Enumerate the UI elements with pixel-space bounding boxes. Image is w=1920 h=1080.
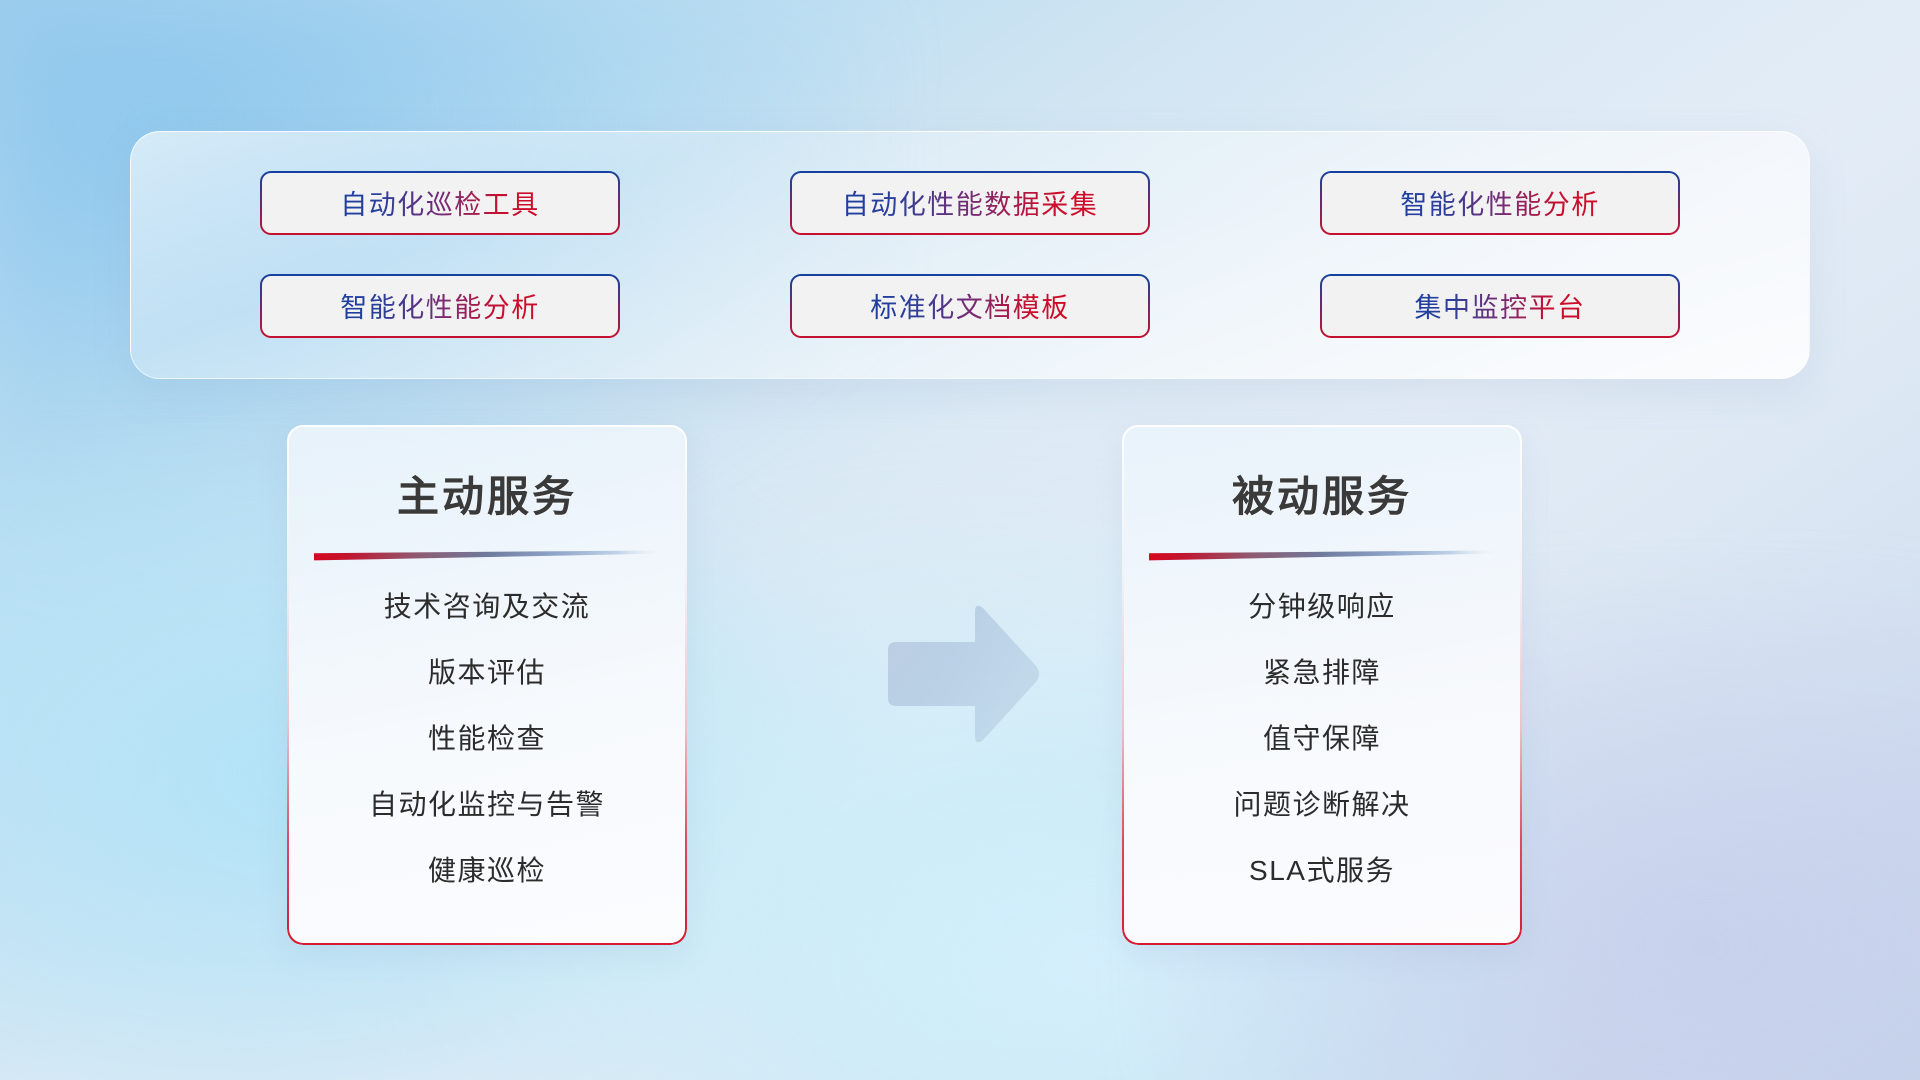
service-card-passive: 被动服务 分钟级响应 紧急排障 值守保障 问题诊断解决 SLA式服务 (1122, 425, 1522, 945)
capability-pill-label: 标准化文档模板 (870, 286, 1070, 325)
service-item-list: 技术咨询及交流 版本评估 性能检查 自动化监控与告警 健康巡检 (287, 589, 687, 888)
capability-pill-label: 智能化性能分析 (340, 286, 540, 325)
service-item: 健康巡检 (287, 853, 687, 888)
service-card-active: 主动服务 技术咨询及交流 版本评估 性能检查 自动化监控与告警 健康巡检 (287, 425, 687, 945)
service-item: 自动化监控与告警 (287, 787, 687, 822)
capability-pill-4[interactable]: 标准化文档模板 (790, 274, 1150, 338)
capability-pill-label: 自动化巡检工具 (340, 183, 540, 222)
service-item: 版本评估 (287, 655, 687, 690)
card-title: 主动服务 (287, 463, 687, 524)
service-item: 技术咨询及交流 (287, 589, 687, 624)
capability-pill-label: 智能化性能分析 (1400, 183, 1600, 222)
capability-pill-label: 集中监控平台 (1415, 286, 1586, 325)
service-item: 值守保障 (1122, 721, 1522, 756)
capability-pill-grid: 自动化巡检工具 自动化性能数据采集 智能化性能分析 智能化性能分析 标准化文档模… (131, 132, 1809, 378)
card-title: 被动服务 (1122, 463, 1522, 524)
capability-pill-1[interactable]: 自动化性能数据采集 (790, 171, 1150, 235)
capability-pill-inner: 标准化文档模板 (792, 276, 1148, 336)
capability-panel: 自动化巡检工具 自动化性能数据采集 智能化性能分析 智能化性能分析 标准化文档模… (130, 131, 1810, 379)
capability-pill-label: 自动化性能数据采集 (842, 183, 1099, 222)
capability-pill-5[interactable]: 集中监控平台 (1320, 274, 1680, 338)
service-item: 性能检查 (287, 721, 687, 756)
arrow-right-icon (880, 600, 1042, 748)
capability-pill-inner: 自动化巡检工具 (262, 173, 618, 233)
service-item-list: 分钟级响应 紧急排障 值守保障 问题诊断解决 SLA式服务 (1122, 589, 1522, 888)
capability-pill-0[interactable]: 自动化巡检工具 (260, 171, 620, 235)
service-item: 紧急排障 (1122, 655, 1522, 690)
card-accent-rule (1149, 550, 1495, 561)
card-accent-rule (314, 550, 660, 561)
service-item: SLA式服务 (1122, 853, 1522, 888)
capability-pill-3[interactable]: 智能化性能分析 (260, 274, 620, 338)
capability-pill-inner: 智能化性能分析 (262, 276, 618, 336)
capability-pill-inner: 集中监控平台 (1322, 276, 1678, 336)
capability-pill-2[interactable]: 智能化性能分析 (1320, 171, 1680, 235)
capability-pill-inner: 自动化性能数据采集 (792, 173, 1148, 233)
capability-pill-inner: 智能化性能分析 (1322, 173, 1678, 233)
service-item: 分钟级响应 (1122, 589, 1522, 624)
service-item: 问题诊断解决 (1122, 787, 1522, 822)
